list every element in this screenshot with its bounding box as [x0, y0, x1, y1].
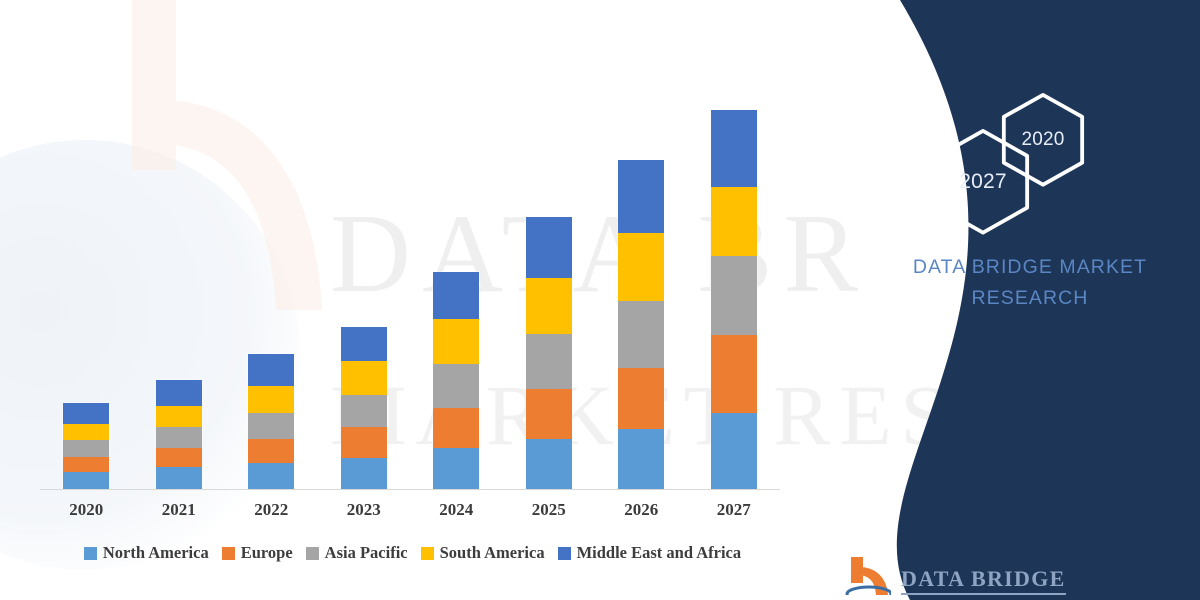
stacked-bar — [433, 272, 479, 489]
stacked-bar — [248, 354, 294, 489]
hexagon-badge-2020-label: 2020 — [1021, 129, 1064, 151]
bar-segment — [63, 457, 109, 472]
x-axis-tick-label: 2022 — [226, 500, 316, 520]
x-axis-tick-label: 2026 — [596, 500, 686, 520]
databridge-h-logo-icon — [845, 555, 891, 595]
bar-segment — [433, 272, 479, 319]
bar-column — [504, 100, 594, 489]
bar-segment — [63, 424, 109, 440]
bar-segment — [526, 278, 572, 334]
bar-segment — [63, 403, 109, 424]
bar-segment — [618, 368, 664, 430]
bar-segment — [526, 334, 572, 389]
chart-legend: North AmericaEuropeAsia PacificSouth Ame… — [40, 540, 785, 566]
plot-area — [40, 100, 780, 490]
bar-column — [134, 100, 224, 489]
stacked-bar — [711, 110, 757, 489]
legend-item[interactable]: North America — [84, 543, 209, 563]
bar-segment — [711, 110, 757, 187]
bar-segment — [618, 160, 664, 234]
brand-name-line-1: DATA BRIDGE MARKET — [880, 252, 1180, 283]
bar-segment — [248, 386, 294, 413]
x-axis-tick-label: 2021 — [134, 500, 224, 520]
bar-segment — [156, 427, 202, 448]
stacked-bar — [618, 160, 664, 489]
legend-item-label: South America — [440, 543, 545, 563]
axis-baseline — [40, 489, 780, 490]
bar-segment — [341, 361, 387, 395]
bar-segment — [433, 319, 479, 365]
bar-segment — [618, 429, 664, 489]
brand-name-line-2: RESEARCH — [880, 283, 1180, 314]
bar-column — [689, 100, 779, 489]
bar-column — [411, 100, 501, 489]
bar-column — [319, 100, 409, 489]
bar-segment — [341, 327, 387, 362]
x-axis-tick-label: 2024 — [411, 500, 501, 520]
bar-segment — [711, 256, 757, 335]
legend-item-label: North America — [103, 543, 209, 563]
legend-item[interactable]: Asia Pacific — [306, 543, 408, 563]
hexagon-badge-2027-label: 2027 — [959, 170, 1007, 194]
brand-name: DATA BRIDGE MARKET RESEARCH — [880, 252, 1180, 314]
bar-segment — [156, 448, 202, 468]
chart-region: 20202021202220232024202520262027 North A… — [0, 0, 820, 600]
bar-segment — [63, 472, 109, 489]
bar-segment — [341, 395, 387, 428]
bar-segment — [248, 354, 294, 387]
bar-segment — [63, 440, 109, 456]
x-axis-tick-label: 2020 — [41, 500, 131, 520]
bar-segment — [156, 380, 202, 406]
x-axis-tick-label: 2027 — [689, 500, 779, 520]
bar-segment — [248, 413, 294, 439]
legend-item[interactable]: Europe — [222, 543, 293, 563]
bar-column — [41, 100, 131, 489]
bar-segment — [156, 406, 202, 428]
bar-segment — [433, 448, 479, 489]
hexagon-badge-2020: 2020 — [1000, 92, 1086, 188]
bar-segment — [433, 364, 479, 407]
bar-segment — [433, 408, 479, 448]
legend-item-label: Asia Pacific — [325, 543, 408, 563]
x-axis-tick-labels: 20202021202220232024202520262027 — [40, 496, 780, 524]
stacked-bar — [341, 327, 387, 489]
bar-segment — [341, 458, 387, 489]
bar-segment — [711, 187, 757, 256]
bar-series-container — [40, 100, 780, 489]
legend-item[interactable]: South America — [421, 543, 545, 563]
stacked-bar — [526, 217, 572, 489]
bar-column — [596, 100, 686, 489]
bar-segment — [618, 233, 664, 300]
bar-segment — [248, 439, 294, 463]
legend-swatch-icon — [84, 547, 97, 560]
bar-segment — [618, 301, 664, 368]
bar-column — [226, 100, 316, 489]
bar-segment — [526, 439, 572, 489]
stacked-bar — [156, 380, 202, 489]
legend-swatch-icon — [222, 547, 235, 560]
legend-item-label: Europe — [241, 543, 293, 563]
legend-swatch-icon — [306, 547, 319, 560]
x-axis-tick-label: 2023 — [319, 500, 409, 520]
bar-segment — [341, 427, 387, 457]
bar-segment — [156, 467, 202, 489]
legend-swatch-icon — [558, 547, 571, 560]
infographic-canvas: DATA BR MARKET RESEARCH 2020202120222023… — [0, 0, 1200, 600]
bar-segment — [526, 217, 572, 278]
legend-item[interactable]: Middle East and Africa — [558, 543, 742, 563]
bar-segment — [711, 413, 757, 489]
bar-segment — [711, 335, 757, 413]
footer-wordmark: DATA BRIDGE — [901, 567, 1066, 595]
legend-item-label: Middle East and Africa — [577, 543, 742, 563]
legend-swatch-icon — [421, 547, 434, 560]
bar-segment — [526, 389, 572, 439]
footer-logo: DATA BRIDGE — [845, 555, 1066, 595]
stacked-bar — [63, 403, 109, 489]
bar-segment — [248, 463, 294, 489]
x-axis-tick-label: 2025 — [504, 500, 594, 520]
